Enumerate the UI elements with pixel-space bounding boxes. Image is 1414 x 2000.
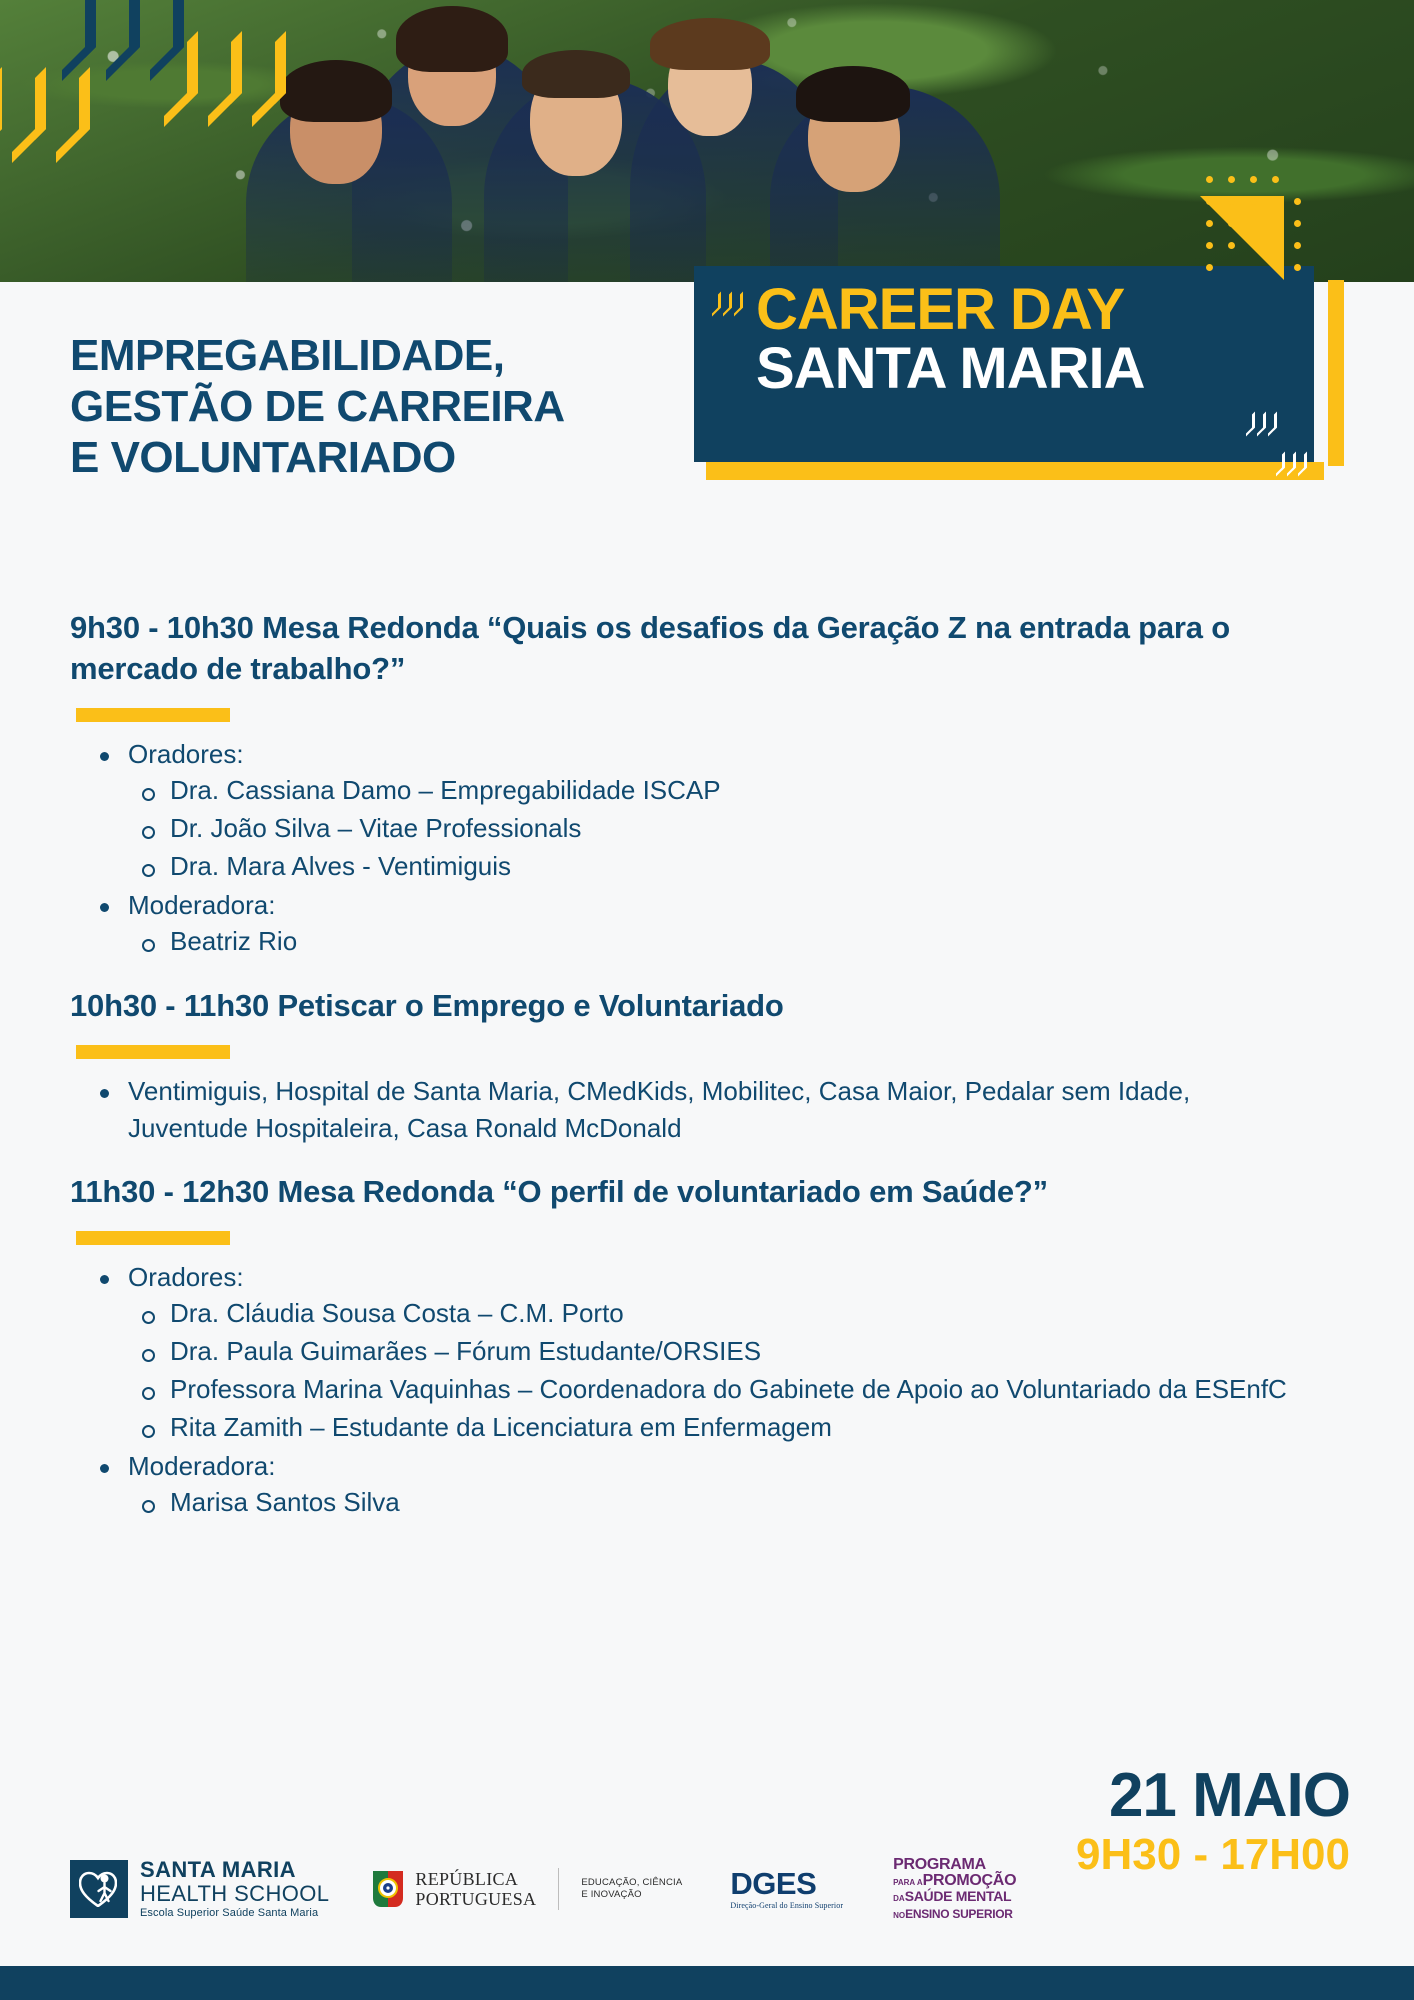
list-item: Moderadora: Marisa Santos Silva xyxy=(94,1448,1350,1521)
headline-line-1: EMPREGABILIDADE, xyxy=(70,330,565,381)
page-title: EMPREGABILIDADE, GESTÃO DE CARREIRA E VO… xyxy=(70,330,565,483)
ministry-label: EDUCAÇÃO, CIÊNCIA E INOVAÇÃO xyxy=(581,1877,682,1903)
list-item: Marisa Santos Silva xyxy=(134,1484,1350,1521)
programa-line-4-row: NOENSINO SUPERIOR xyxy=(893,1906,1016,1922)
logo-republica-portuguesa: REPÚBLICA PORTUGUESA EDUCAÇÃO, CIÊNCIA E… xyxy=(371,1868,682,1910)
badge-yellow-underline xyxy=(706,462,1324,480)
list-item: Dra. Cláudia Sousa Costa – C.M. Porto xyxy=(134,1295,1350,1332)
portugal-shield-icon xyxy=(371,1869,405,1909)
rp-sub-2: E INOVAÇÃO xyxy=(581,1889,682,1902)
group-label: Moderadora: xyxy=(128,1451,275,1481)
career-day-badge: CAREER DAY SANTA MARIA xyxy=(694,266,1344,496)
list-item: Dra. Mara Alves - Ventimiguis xyxy=(134,848,1350,885)
list-item: Dra. Paula Guimarães – Fórum Estudante/O… xyxy=(134,1333,1350,1370)
event-time-range: 9H30 - 17H00 xyxy=(1076,1827,1350,1882)
session-2-yellow-rule xyxy=(76,1045,230,1059)
heart-icon xyxy=(79,1871,117,1907)
hair-5 xyxy=(796,66,910,122)
group-label: Oradores: xyxy=(128,739,244,769)
list-item: Moderadora: Beatriz Rio xyxy=(94,887,1350,960)
list-item: Beatriz Rio xyxy=(134,923,1350,960)
dges-subtitle: Direção-Geral do Ensino Superior xyxy=(730,1901,843,1910)
headline-line-2: GESTÃO DE CARREIRA xyxy=(70,381,565,432)
dges-wordmark: DGES xyxy=(730,1868,843,1899)
sms-line-2: HEALTH SCHOOL xyxy=(140,1882,329,1906)
session-3-groups: Oradores: Dra. Cláudia Sousa Costa – C.M… xyxy=(94,1259,1350,1521)
badge-title-santa-maria: SANTA MARIA xyxy=(756,339,1314,400)
logo-programa-saude-mental: PROGRAMA PARA APROMOÇÃO DASAÚDE MENTAL N… xyxy=(893,1857,1016,1922)
bottom-navy-bar xyxy=(0,1966,1414,2000)
rp-sub-1: EDUCAÇÃO, CIÊNCIA xyxy=(581,1877,682,1890)
session-block-2: 10h30 - 11h30 Petiscar o Emprego e Volun… xyxy=(70,986,1350,1146)
programa-line-2: PROMOÇÃO xyxy=(923,1872,1017,1889)
hair-4 xyxy=(650,18,770,70)
badge-yellow-right-edge xyxy=(1328,280,1344,466)
session-block-1: 9h30 - 10h30 Mesa Redonda “Quais os desa… xyxy=(70,608,1350,960)
rp-line-2: PORTUGUESA xyxy=(415,1889,536,1909)
speaker-list: Dra. Cláudia Sousa Costa – C.M. Porto Dr… xyxy=(134,1295,1350,1446)
yellow-dot-grid-decoration xyxy=(1206,176,1318,290)
group-label: Moderadora: xyxy=(128,890,275,920)
hair-3 xyxy=(522,50,630,98)
sms-line-1: SANTA MARIA xyxy=(140,1858,329,1881)
list-item: Dra. Cassiana Damo – Empregabilidade ISC… xyxy=(134,772,1350,809)
badge-panel: CAREER DAY SANTA MARIA xyxy=(694,266,1314,462)
programa-line-4: ENSINO SUPERIOR xyxy=(905,1907,1013,1921)
session-1-groups: Oradores: Dra. Cassiana Damo – Empregabi… xyxy=(94,736,1350,960)
hair-2 xyxy=(396,6,508,72)
santa-maria-wordmark: SANTA MARIA HEALTH SCHOOL Escola Superio… xyxy=(140,1858,329,1920)
list-item: Dr. João Silva – Vitae Professionals xyxy=(134,810,1350,847)
heart-person-icon xyxy=(70,1860,128,1918)
logo-dges: DGES Direção-Geral do Ensino Superior xyxy=(730,1868,843,1910)
headline-line-3: E VOLUNTARIADO xyxy=(70,432,565,483)
session-2-heading: 10h30 - 11h30 Petiscar o Emprego e Volun… xyxy=(70,986,1320,1027)
programa-line-4-small: NO xyxy=(893,1911,905,1920)
programa-line-3-small: DA xyxy=(893,1894,905,1903)
programa-line-2-small: PARA A xyxy=(893,1878,922,1887)
sms-line-3: Escola Superior Saúde Santa Maria xyxy=(140,1906,329,1920)
list-item: Oradores: Dra. Cassiana Damo – Empregabi… xyxy=(94,736,1350,885)
group-label: Oradores: xyxy=(128,1262,244,1292)
session-block-3: 11h30 - 12h30 Mesa Redonda “O perfil de … xyxy=(70,1172,1350,1521)
speaker-list: Dra. Cassiana Damo – Empregabilidade ISC… xyxy=(134,772,1350,885)
moderator-list: Marisa Santos Silva xyxy=(134,1484,1350,1521)
list-item: Rita Zamith – Estudante da Licenciatura … xyxy=(134,1409,1350,1446)
rp-line-1: REPÚBLICA xyxy=(415,1869,536,1889)
list-item: Oradores: Dra. Cláudia Sousa Costa – C.M… xyxy=(94,1259,1350,1446)
list-item: Ventimiguis, Hospital de Santa Maria, CM… xyxy=(94,1073,1234,1146)
session-1-heading: 9h30 - 10h30 Mesa Redonda “Quais os desa… xyxy=(70,608,1320,690)
session-1-yellow-rule xyxy=(76,708,230,722)
programa-line-3-row: DASAÚDE MENTAL xyxy=(893,1889,1016,1905)
programa-line-3: SAÚDE MENTAL xyxy=(905,1888,1012,1904)
session-3-heading: 11h30 - 12h30 Mesa Redonda “O perfil de … xyxy=(70,1172,1320,1213)
republica-wordmark: REPÚBLICA PORTUGUESA xyxy=(415,1869,536,1909)
hair-1 xyxy=(280,60,392,122)
list-item: Professora Marina Vaquinhas – Coordenado… xyxy=(134,1371,1294,1408)
programa-line-2-row: PARA APROMOÇÃO xyxy=(893,1873,1016,1889)
programa-line-1: PROGRAMA xyxy=(893,1857,1016,1873)
event-date-block: 21 MAIO 9H30 - 17H00 xyxy=(1076,1765,1350,1882)
logo-santa-maria-health-school: SANTA MARIA HEALTH SCHOOL Escola Superio… xyxy=(70,1858,329,1920)
sessions-list: 9h30 - 10h30 Mesa Redonda “Quais os desa… xyxy=(70,608,1350,1529)
moderator-list: Beatriz Rio xyxy=(134,923,1350,960)
session-2-entities: Ventimiguis, Hospital de Santa Maria, CM… xyxy=(94,1073,1350,1146)
event-date: 21 MAIO xyxy=(1076,1765,1350,1827)
poster-root: EMPREGABILIDADE, GESTÃO DE CARREIRA E VO… xyxy=(0,0,1414,2000)
session-3-yellow-rule xyxy=(76,1231,230,1245)
footer-logos: SANTA MARIA HEALTH SCHOOL Escola Superio… xyxy=(70,1857,1016,1922)
logo-divider xyxy=(558,1868,559,1910)
